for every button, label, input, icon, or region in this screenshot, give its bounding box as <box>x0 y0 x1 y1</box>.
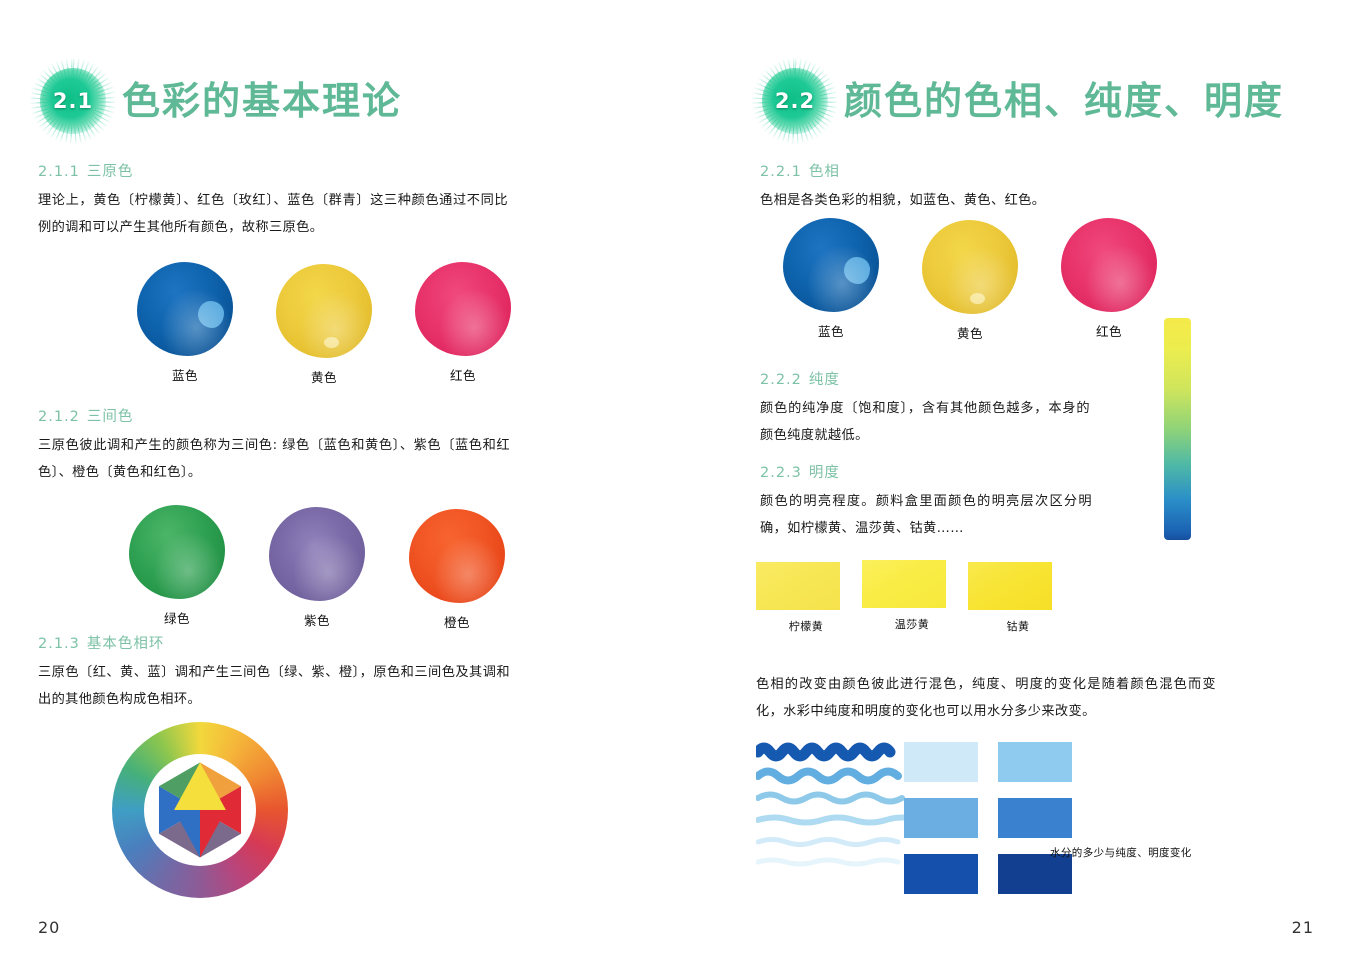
section-number: 2.2.2 <box>760 372 802 388</box>
swatch-blob-purple <box>269 507 365 601</box>
section-number: 2.2.3 <box>760 465 802 481</box>
grid-swatch <box>998 854 1072 894</box>
swatch-orange: 橙色 <box>402 509 512 631</box>
swatch-label-green: 绿色 <box>122 608 232 627</box>
chapter-heading-2-2: 2.2 颜色的色相、纯度、明度 <box>756 62 1284 140</box>
swatch-green: 绿色 <box>122 505 232 627</box>
section-number: 2.2.1 <box>760 164 802 180</box>
swatch-label-yellow: 黄色 <box>269 367 379 386</box>
swatch-red: 红色 <box>408 262 518 384</box>
section-heading-2-1-3: 2.1.3基本色相环 <box>38 632 164 653</box>
grid-swatch <box>998 798 1072 838</box>
swatch-blob-red <box>1061 218 1157 312</box>
section-title: 明度 <box>809 465 840 481</box>
color-wheel-inner-hexagon <box>146 756 254 864</box>
grid-swatch <box>904 854 978 894</box>
swatch-label-blue: 蓝色 <box>776 321 886 340</box>
secondary-color-swatches: 绿色 紫色 橙色 <box>122 505 522 625</box>
color-wheel-figure <box>112 722 288 898</box>
section-body-2-1-2: 三原色彼此调和产生的颜色称为三间色: 绿色〔蓝色和黄色〕、紫色〔蓝色和红色〕、橙… <box>38 433 510 486</box>
section-title: 色相 <box>809 164 840 180</box>
splash-badge-icon: 2.1 <box>34 62 112 140</box>
section-number: 2.1.1 <box>38 164 80 180</box>
chapter-badge-number: 2.1 <box>53 89 93 113</box>
right-page: 2.2 颜色的色相、纯度、明度 2.2.1色相 色相是各类色彩的相貌，如蓝色、黄… <box>676 0 1352 955</box>
section-number: 2.1.2 <box>38 409 80 425</box>
section-title: 基本色相环 <box>87 636 165 652</box>
chapter-badge-number: 2.2 <box>775 89 815 113</box>
book-spread: 2.1 色彩的基本理论 2.1.1三原色 理论上，黄色〔柠檬黄〕、红色〔玫红〕、… <box>0 0 1352 955</box>
left-page: 2.1 色彩的基本理论 2.1.1三原色 理论上，黄色〔柠檬黄〕、红色〔玫红〕、… <box>0 0 676 955</box>
swatch-label-blue: 蓝色 <box>130 365 240 384</box>
color-wheel <box>112 722 288 898</box>
water-demo-caption: 水分的多少与纯度、明度变化 <box>1050 845 1192 860</box>
grid-swatch <box>904 742 978 782</box>
swatch-blob-red <box>415 262 511 356</box>
yellow-swatch-winsor: 温莎黄 <box>862 560 962 632</box>
grid-swatch <box>904 798 978 838</box>
yellow-rect-cobalt <box>968 562 1052 610</box>
swatch-blob-yellow <box>922 220 1018 314</box>
section-body-2-2-1: 色相是各类色彩的相貌，如蓝色、黄色、红色。 <box>760 188 1190 215</box>
page-number-right: 21 <box>1292 918 1314 937</box>
yellow-label-lemon: 柠檬黄 <box>756 618 856 634</box>
chapter-title: 颜色的色相、纯度、明度 <box>844 82 1284 120</box>
yellow-rect-lemon <box>756 562 840 610</box>
chapter-heading-2-1: 2.1 色彩的基本理论 <box>34 62 402 140</box>
chapter-title: 色彩的基本理论 <box>122 82 402 120</box>
hue-color-swatches: 蓝色 黄色 红色 <box>776 218 1176 338</box>
swatch-yellow: 黄色 <box>269 264 379 386</box>
swatch-blue: 蓝色 <box>130 262 240 384</box>
page-number-left: 20 <box>38 918 60 937</box>
closing-body-text: 色相的改变由颜色彼此进行混色，纯度、明度的变化是随着颜色混色而变化，水彩中纯度和… <box>756 672 1216 725</box>
section-body-2-2-2: 颜色的纯净度〔饱和度〕，含有其他颜色越多，本身的颜色纯度就越低。 <box>760 396 1090 449</box>
section-title: 三间色 <box>87 409 134 425</box>
swatch-blob-green <box>129 505 225 599</box>
yellow-label-winsor: 温莎黄 <box>862 616 962 632</box>
grid-swatch <box>998 742 1072 782</box>
yellow-rect-winsor <box>862 560 946 608</box>
section-body-2-1-3: 三原色〔红、黄、蓝〕调和产生三间色〔绿、紫、橙〕，原色和三间色及其调和出的其他颜… <box>38 660 510 713</box>
swatch-label-yellow: 黄色 <box>915 323 1025 342</box>
swatch-yellow: 黄色 <box>915 220 1025 342</box>
swatch-label-orange: 橙色 <box>402 612 512 631</box>
swatch-label-red: 红色 <box>1054 321 1164 340</box>
section-heading-2-1-1: 2.1.1三原色 <box>38 160 133 181</box>
section-title: 三原色 <box>87 164 134 180</box>
section-heading-2-2-3: 2.2.3明度 <box>760 461 840 482</box>
swatch-blob-blue <box>783 218 879 312</box>
section-body-2-2-3: 颜色的明亮程度。颜料盒里面颜色的明亮层次区分明确，如柠檬黄、温莎黄、钴黄…… <box>760 489 1092 542</box>
yellow-label-cobalt: 钴黄 <box>968 618 1068 634</box>
splash-badge-icon: 2.2 <box>756 62 834 140</box>
swatch-label-red: 红色 <box>408 365 518 384</box>
section-heading-2-2-1: 2.2.1色相 <box>760 160 840 181</box>
yellow-swatch-cobalt: 钴黄 <box>968 562 1068 634</box>
primary-color-swatches: 蓝色 黄色 红色 <box>130 262 530 382</box>
swatch-blob-blue <box>137 262 233 356</box>
section-body-2-1-1: 理论上，黄色〔柠檬黄〕、红色〔玫红〕、蓝色〔群青〕这三种颜色通过不同比例的调和可… <box>38 188 508 241</box>
swatch-purple: 紫色 <box>262 507 372 629</box>
swatch-blue: 蓝色 <box>776 218 886 340</box>
purity-gradient-bar <box>1164 318 1191 540</box>
swatch-label-purple: 紫色 <box>262 610 372 629</box>
section-heading-2-2-2: 2.2.2纯度 <box>760 368 840 389</box>
section-number: 2.1.3 <box>38 636 80 652</box>
swatch-red: 红色 <box>1054 218 1164 340</box>
water-dilution-grid <box>904 742 1072 894</box>
yellow-swatch-lemon: 柠檬黄 <box>756 562 856 634</box>
swatch-blob-yellow <box>276 264 372 358</box>
swatch-blob-orange <box>409 509 505 603</box>
section-heading-2-1-2: 2.1.2三间色 <box>38 405 133 426</box>
section-title: 纯度 <box>809 372 840 388</box>
